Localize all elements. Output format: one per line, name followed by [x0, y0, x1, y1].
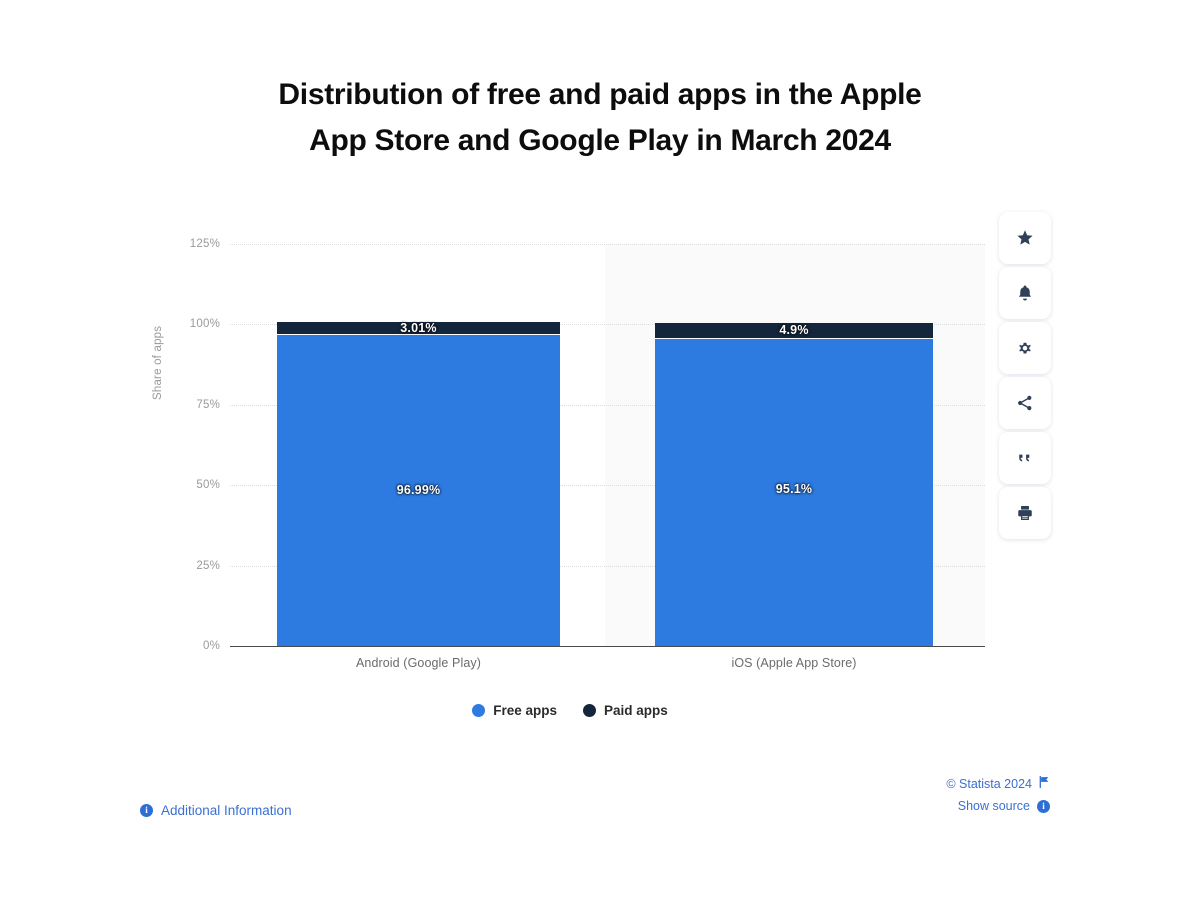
- side-action-toolbar: [999, 212, 1051, 539]
- bar-ios-free[interactable]: 95.1%: [655, 339, 933, 646]
- favorite-button[interactable]: [999, 212, 1051, 264]
- y-tick-label-125: 125%: [160, 238, 220, 250]
- gridline-125: [230, 244, 985, 245]
- y-tick-label-100: 100%: [160, 318, 220, 330]
- show-source-link[interactable]: Show source i: [946, 799, 1050, 813]
- x-category-label-ios: iOS (Apple App Store): [655, 656, 933, 670]
- star-icon: [1016, 229, 1034, 247]
- bar-ios-paid[interactable]: 4.9%: [655, 323, 933, 338]
- y-axis-title: Share of apps: [152, 326, 164, 400]
- additional-information-link[interactable]: i Additional Information: [140, 803, 292, 818]
- settings-button[interactable]: [999, 322, 1051, 374]
- legend-item-free-apps[interactable]: Free apps: [472, 703, 557, 718]
- print-icon: [1016, 504, 1034, 522]
- x-category-label-android: Android (Google Play): [277, 656, 560, 670]
- x-axis-baseline: [230, 646, 985, 647]
- footer-right: © Statista 2024 Show source i: [946, 776, 1050, 821]
- additional-information-label: Additional Information: [161, 803, 292, 818]
- info-icon: i: [140, 804, 153, 817]
- bar-label-ios-free: 95.1%: [655, 482, 933, 496]
- flag-icon: [1039, 776, 1050, 791]
- show-source-info-icon: i: [1037, 800, 1050, 813]
- notifications-button[interactable]: [999, 267, 1051, 319]
- chart-legend: Free apps Paid apps: [0, 703, 1140, 718]
- y-tick-label-75: 75%: [160, 399, 220, 411]
- copyright-label: © Statista 2024: [946, 777, 1032, 791]
- print-button[interactable]: [999, 487, 1051, 539]
- gear-icon: [1016, 339, 1034, 357]
- legend-label-paid-apps: Paid apps: [604, 703, 668, 718]
- bar-android-paid[interactable]: 3.01%: [277, 322, 560, 334]
- statista-copyright[interactable]: © Statista 2024: [946, 776, 1050, 791]
- y-tick-label-50: 50%: [160, 479, 220, 491]
- bar-label-android-paid: 3.01%: [277, 321, 560, 335]
- citation-button[interactable]: [999, 432, 1051, 484]
- y-tick-label-25: 25%: [160, 560, 220, 572]
- bar-label-ios-paid: 4.9%: [655, 323, 933, 337]
- legend-swatch-paid-apps-icon: [583, 704, 596, 717]
- share-icon: [1016, 394, 1034, 412]
- show-source-label: Show source: [958, 799, 1030, 813]
- bar-label-android-free: 96.99%: [277, 483, 560, 497]
- share-button[interactable]: [999, 377, 1051, 429]
- legend-item-paid-apps[interactable]: Paid apps: [583, 703, 668, 718]
- legend-label-free-apps: Free apps: [493, 703, 557, 718]
- quote-icon: [1016, 449, 1034, 467]
- y-tick-label-0: 0%: [160, 640, 220, 652]
- legend-swatch-free-apps-icon: [472, 704, 485, 717]
- bell-icon: [1016, 284, 1034, 302]
- bar-android-free[interactable]: 96.99%: [277, 335, 560, 646]
